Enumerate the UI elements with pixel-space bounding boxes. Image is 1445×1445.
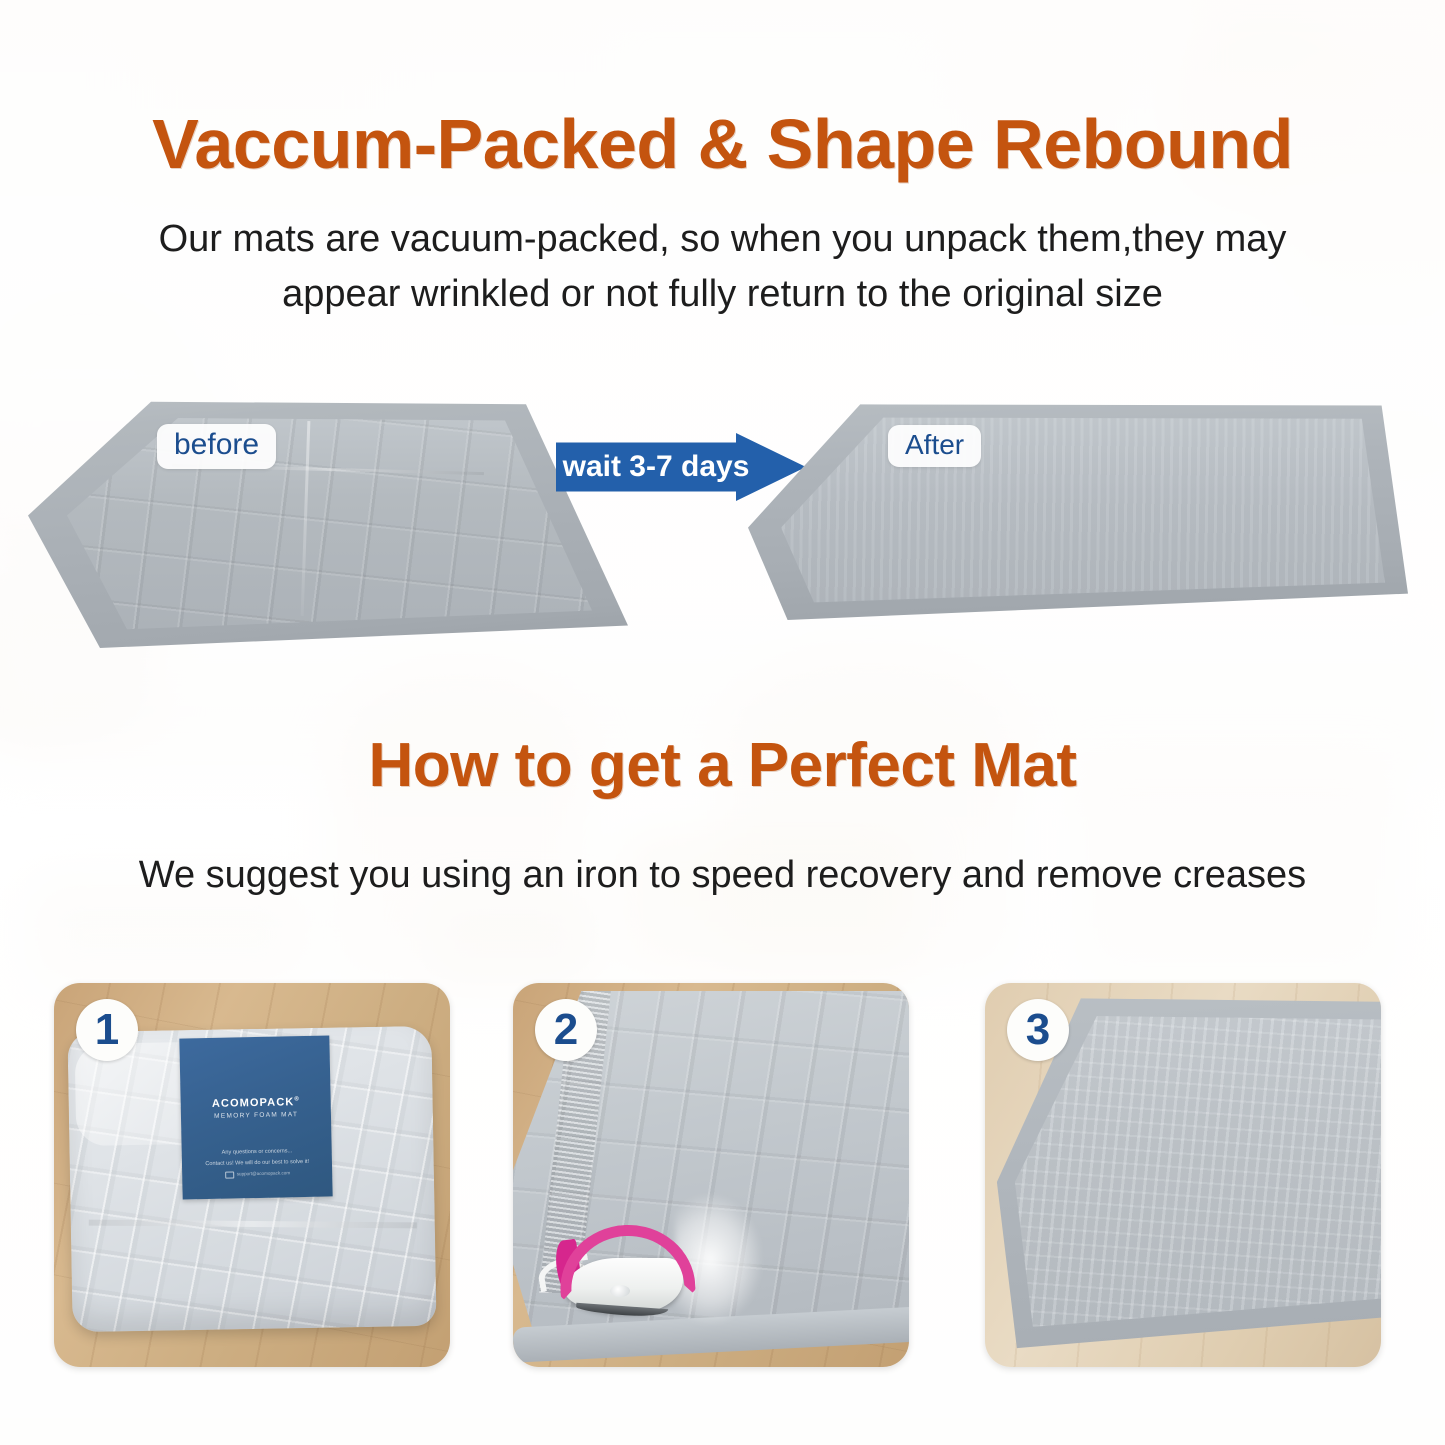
label-footer-line2: Contact us! We will do our best to solve… [182, 1156, 333, 1170]
iron-handle [557, 1221, 696, 1302]
step-badge-3: 3 [1007, 999, 1069, 1061]
label-email-row: support@acomopack.com [182, 1168, 333, 1180]
product-label-card: ACOMOPACK® MEMORY FOAM MAT Any questions… [179, 1035, 333, 1199]
step-photo-1: ACOMOPACK® MEMORY FOAM MAT Any questions… [54, 983, 450, 1367]
section1-subtext-line2: appear wrinkled or not fully return to t… [0, 267, 1445, 322]
section1-subtext-line1: Our mats are vacuum-packed, so when you … [0, 212, 1445, 267]
bag-fold-line [89, 1219, 417, 1228]
steam-iron [557, 1225, 692, 1317]
step-badge-1: 1 [76, 999, 138, 1061]
before-mat-crease-vertical [301, 421, 311, 616]
mail-icon [224, 1171, 233, 1178]
step-badge-2: 2 [535, 999, 597, 1061]
section2-headline: How to get a Perfect Mat [0, 730, 1445, 801]
label-product-name: MEMORY FOAM MAT [214, 1111, 298, 1120]
after-mat-image [748, 400, 1408, 620]
section2-subtext: We suggest you using an iron to speed re… [0, 848, 1445, 903]
step-photo-2: 2 [513, 983, 909, 1367]
section1-subtext: Our mats are vacuum-packed, so when you … [0, 212, 1445, 322]
section1-headline: Vaccum-Packed & Shape Rebound [0, 104, 1445, 184]
label-email-text: support@acomopack.com [236, 1169, 290, 1179]
label-trademark-symbol: ® [294, 1096, 300, 1102]
after-label-pill: After [888, 425, 981, 467]
step-photo-3: 3 [985, 983, 1381, 1367]
infographic-page: Vaccum-Packed & Shape Rebound Our mats a… [0, 0, 1445, 1445]
iron-soleplate [576, 1302, 669, 1317]
arrow-label-text: wait 3-7 days [568, 433, 744, 501]
before-mat-image [28, 398, 628, 648]
before-label-pill: before [157, 424, 276, 469]
label-footer-text: Any questions or concerns... Contact us!… [181, 1145, 332, 1180]
label-brand-name: ACOMOPACK® [212, 1096, 300, 1110]
label-brand-text: ACOMOPACK [212, 1096, 295, 1110]
